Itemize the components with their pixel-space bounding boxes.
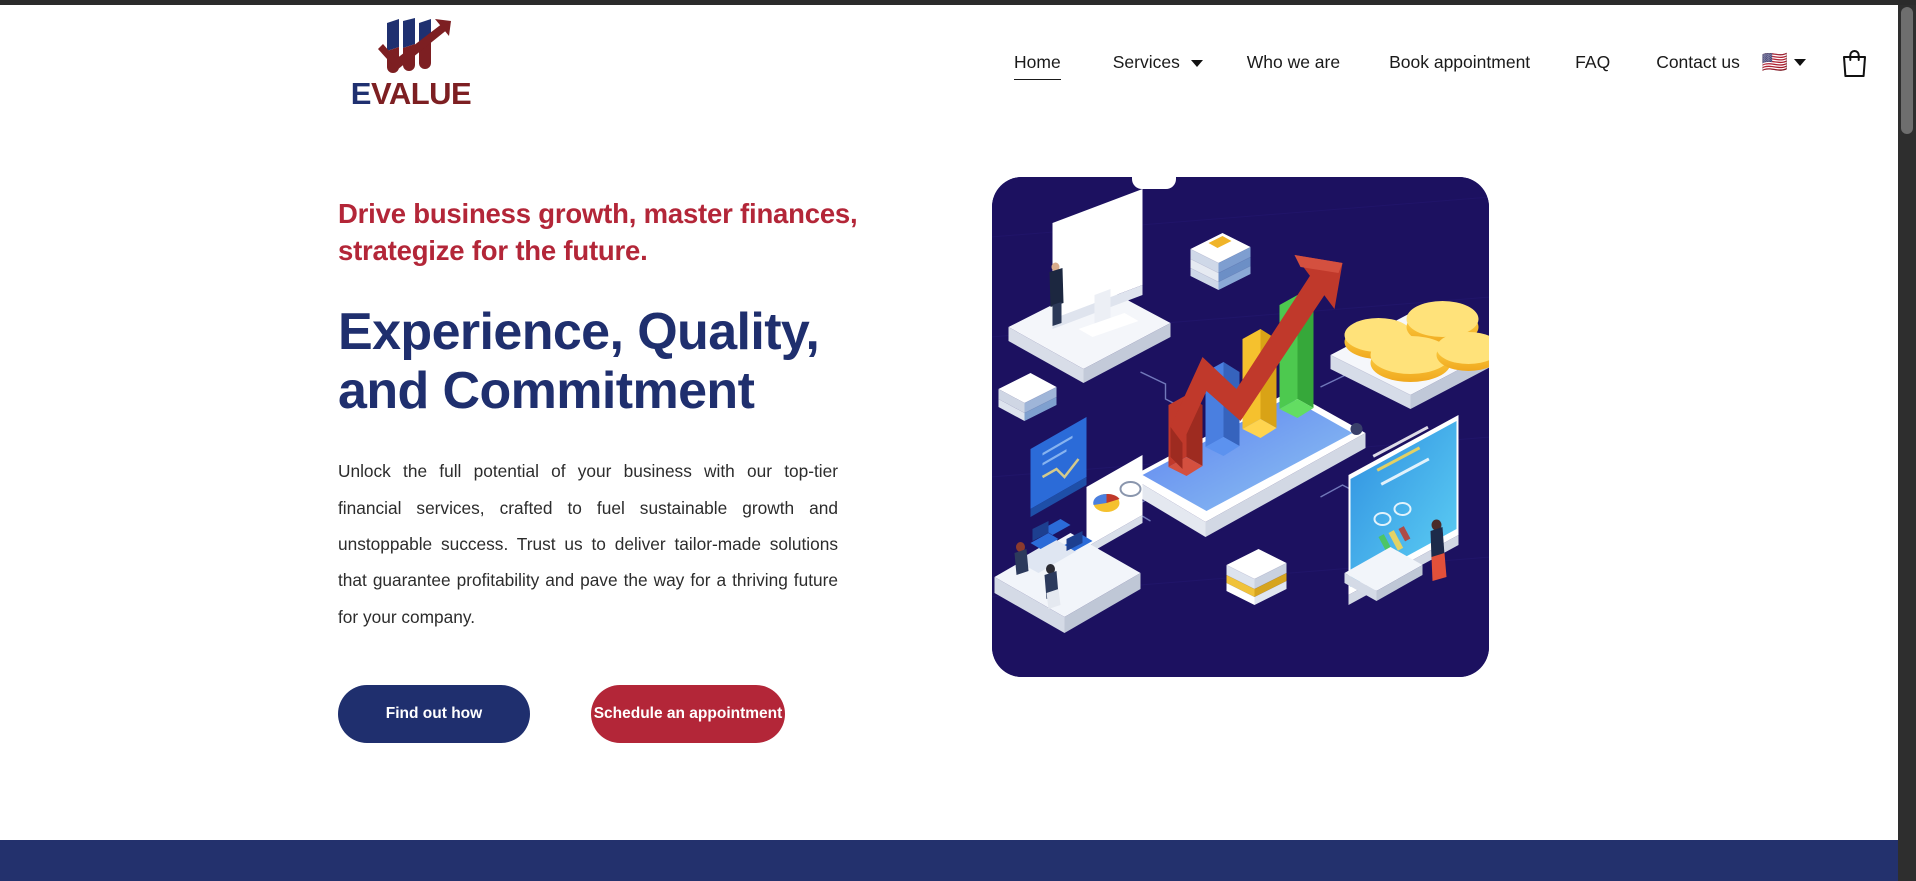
nav-item-services[interactable]: Services — [1113, 52, 1203, 73]
hero-eyebrow-line-2: strategize for the future. — [338, 232, 878, 269]
brand-wordmark-suffix: VALUE — [371, 76, 471, 111]
schedule-appointment-button[interactable]: Schedule an appointment — [591, 685, 785, 743]
nav-item-contact-us-label: Contact us — [1656, 52, 1740, 72]
scrollbar-thumb[interactable] — [1901, 7, 1913, 134]
nav-item-faq-label: FAQ — [1575, 52, 1610, 72]
nav-item-who-we-are[interactable]: Who we are — [1247, 52, 1340, 73]
nav-item-contact-us[interactable]: Contact us — [1656, 52, 1740, 73]
brand-wordmark: EVALUE — [351, 78, 471, 109]
hero-image-wrapper — [992, 177, 1489, 677]
brand-wordmark-prefix: E — [351, 76, 371, 111]
main-navigation: Home Services Who we are Book appointmen… — [1014, 5, 1898, 120]
logo-mark-icon — [365, 17, 457, 77]
footer-band — [0, 840, 1898, 881]
hero-section: Drive business growth, master finances, … — [0, 120, 1898, 835]
nav-item-who-we-are-label: Who we are — [1247, 52, 1340, 72]
page-root: EVALUE Home Services Who we are Book app… — [0, 5, 1898, 881]
hero-cta-row: Find out how Schedule an appointment — [338, 685, 878, 743]
language-chevron-down-icon[interactable] — [1794, 59, 1806, 66]
hero-illustration — [992, 177, 1489, 677]
hero-headline: Experience, Quality, and Commitment — [338, 303, 878, 421]
nav-item-home-label: Home — [1014, 52, 1061, 72]
hero-text-column: Drive business growth, master finances, … — [338, 195, 878, 743]
shopping-bag-icon — [1841, 48, 1868, 78]
hero-eyebrow-line-1: Drive business growth, master finances, — [338, 195, 878, 232]
site-header: EVALUE Home Services Who we are Book app… — [0, 5, 1898, 120]
chevron-down-icon[interactable] — [1191, 60, 1203, 67]
language-switcher[interactable]: 🇺🇸 — [1762, 52, 1806, 73]
page-scrollbar[interactable] — [1898, 5, 1916, 881]
find-out-how-button[interactable]: Find out how — [338, 685, 530, 743]
us-flag-icon: 🇺🇸 — [1762, 52, 1788, 73]
nav-active-underline — [1014, 79, 1061, 81]
brand-logo[interactable]: EVALUE — [352, 17, 470, 105]
nav-item-book-appointment[interactable]: Book appointment — [1389, 52, 1530, 73]
hero-image-notch — [1132, 163, 1176, 189]
hero-eyebrow: Drive business growth, master finances, … — [338, 195, 878, 270]
nav-item-services-label: Services — [1113, 52, 1180, 72]
nav-item-faq[interactable]: FAQ — [1575, 52, 1610, 73]
cart-button[interactable] — [1841, 48, 1868, 78]
hero-paragraph: Unlock the full potential of your busine… — [338, 453, 838, 635]
nav-item-home[interactable]: Home — [1014, 52, 1061, 73]
nav-item-book-appointment-label: Book appointment — [1389, 52, 1530, 72]
